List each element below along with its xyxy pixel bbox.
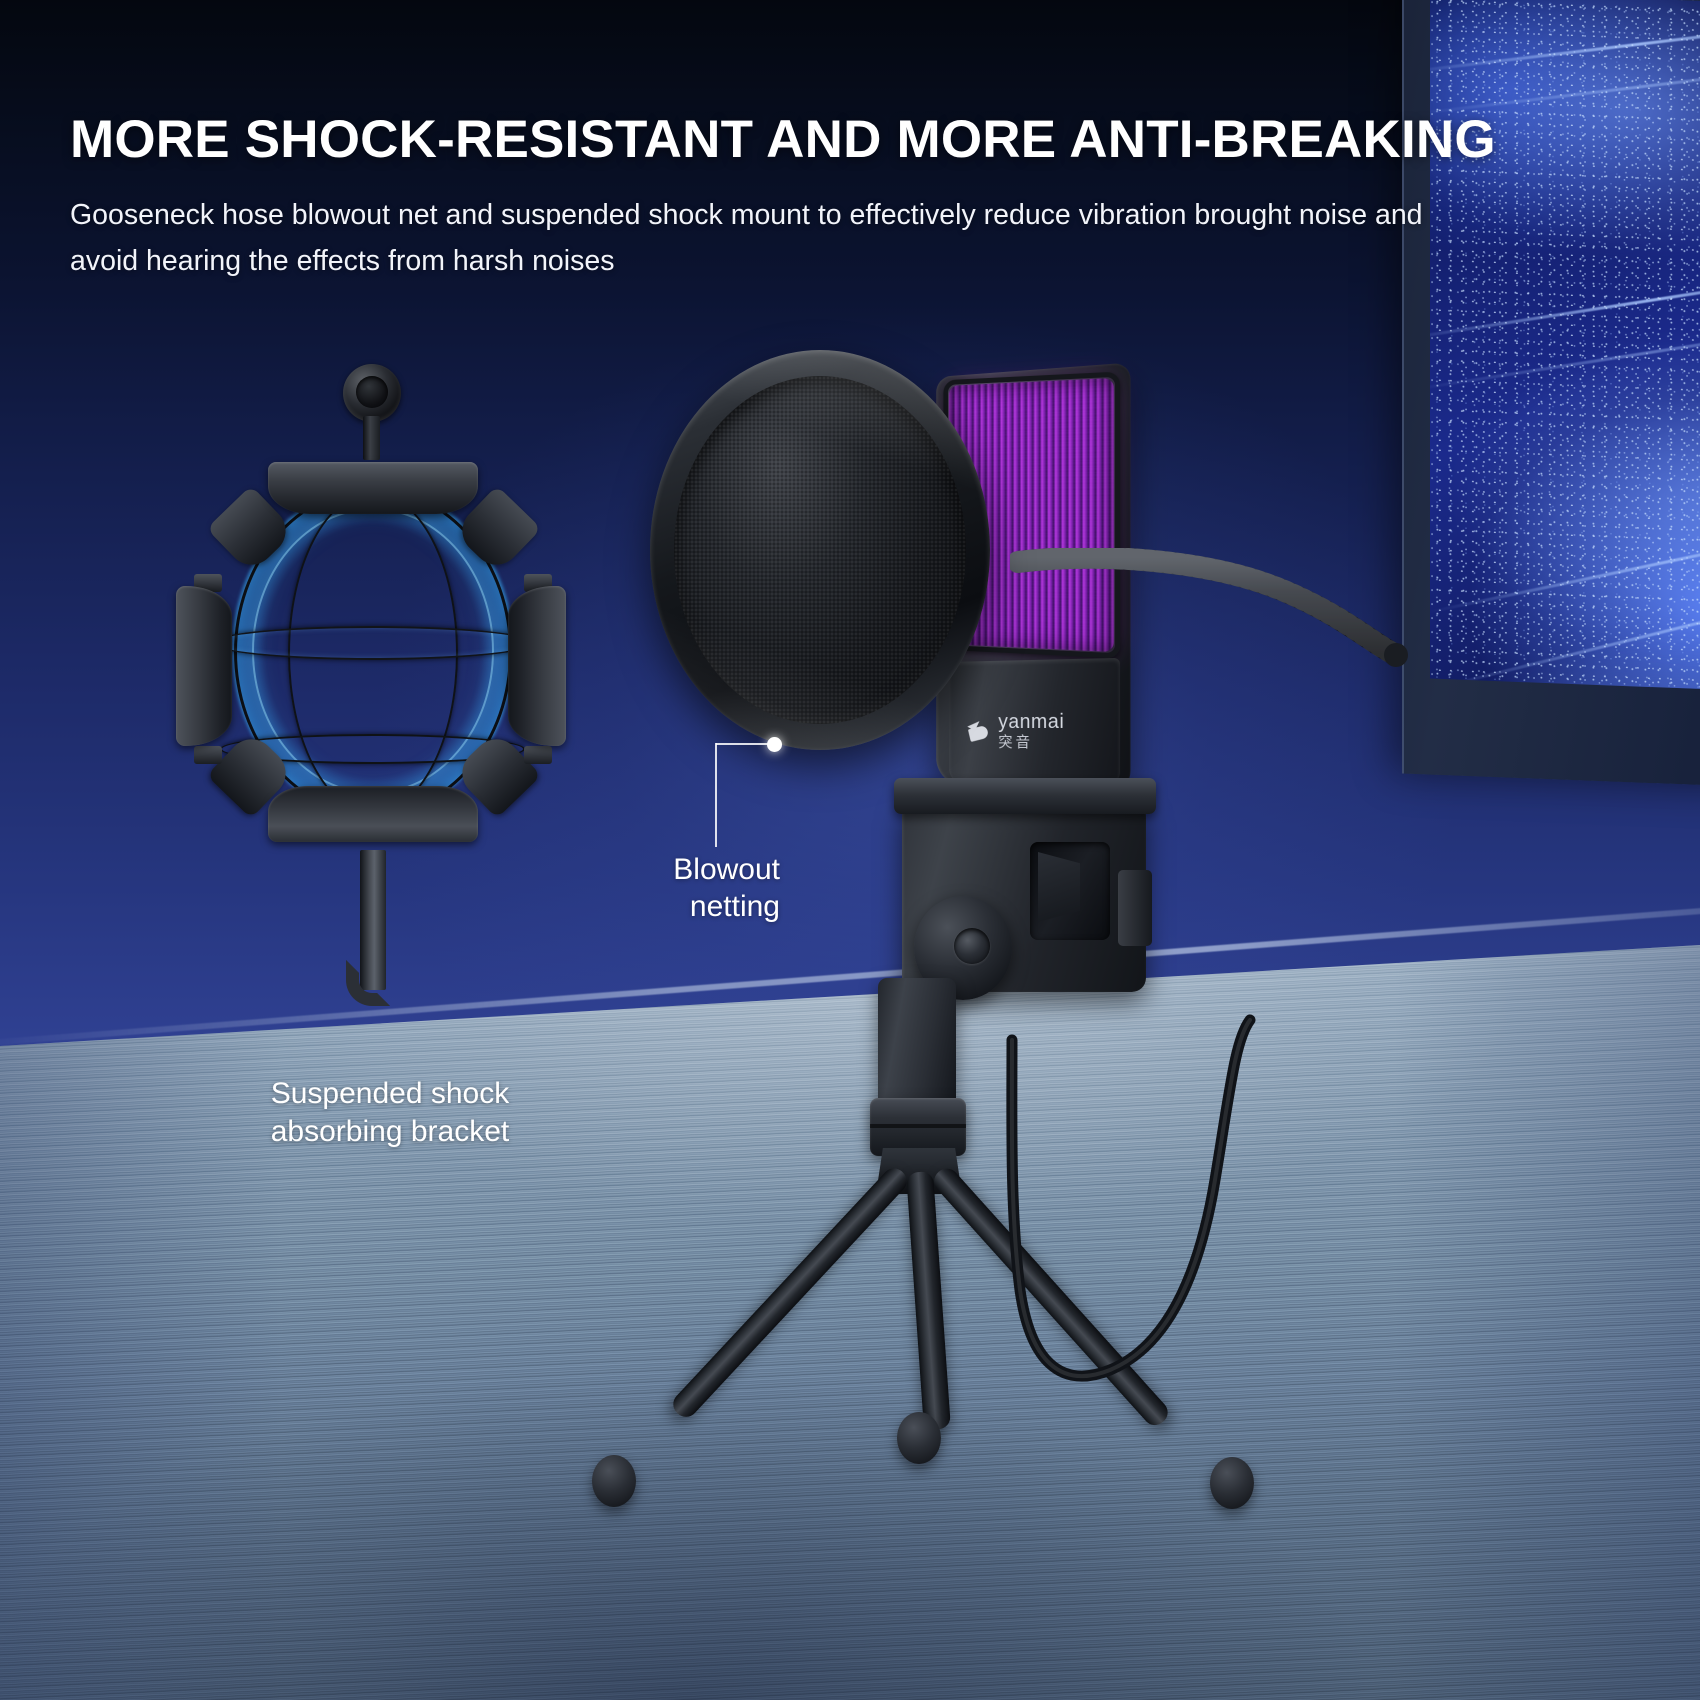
mount-clamp-bottom <box>268 786 478 842</box>
mount-clamp-top <box>268 462 478 514</box>
shock-mount-bracket <box>160 360 580 980</box>
holder-plate <box>894 778 1156 814</box>
brand-name-en: yanmai <box>998 712 1064 732</box>
mount-horizontal-ring-upper <box>212 626 534 660</box>
product-feature-banner: MORE SHOCK-RESISTANT AND MORE ANTI-BREAK… <box>0 0 1700 1700</box>
mount-cage <box>180 456 565 856</box>
mount-tab-left-lower <box>194 746 222 764</box>
tripod-foot-left <box>592 1455 636 1507</box>
callout-label-blowout-netting: Blowout netting <box>540 852 780 925</box>
blowout-netting-mesh <box>674 376 966 724</box>
tripod-leg-middle <box>906 1171 951 1430</box>
tripod-foot-middle <box>897 1412 941 1464</box>
mount-top-knob <box>343 364 401 422</box>
mount-tab-right-lower <box>524 746 552 764</box>
brand-name-cn: 突音 <box>998 735 1064 750</box>
page-title: MORE SHOCK-RESISTANT AND MORE ANTI-BREAK… <box>70 112 1490 167</box>
tripod-collar <box>870 1098 966 1156</box>
mount-top-stem <box>363 416 380 460</box>
tripod-stand <box>560 1020 1280 1500</box>
holder-screw <box>954 928 990 964</box>
tripod-leg-right <box>929 1164 1172 1430</box>
callout-label-suspended-bracket: Suspended shock absorbing bracket <box>150 1075 630 1150</box>
pop-filter <box>650 350 990 750</box>
callout-line-blowout-vertical <box>715 743 717 847</box>
tripod-foot-right <box>1210 1457 1254 1509</box>
callout-line-blowout-horizontal <box>716 743 772 745</box>
tripod-leg-left <box>668 1163 911 1421</box>
page-subtitle: Gooseneck hose blowout net and suspended… <box>70 192 1430 284</box>
holder-wing <box>1118 870 1152 946</box>
screen-texture <box>1430 0 1700 692</box>
mount-clamp-right <box>508 586 566 746</box>
mount-clamp-left <box>176 586 232 746</box>
holder-slot <box>1030 842 1110 940</box>
monitor-screen <box>1430 0 1700 692</box>
